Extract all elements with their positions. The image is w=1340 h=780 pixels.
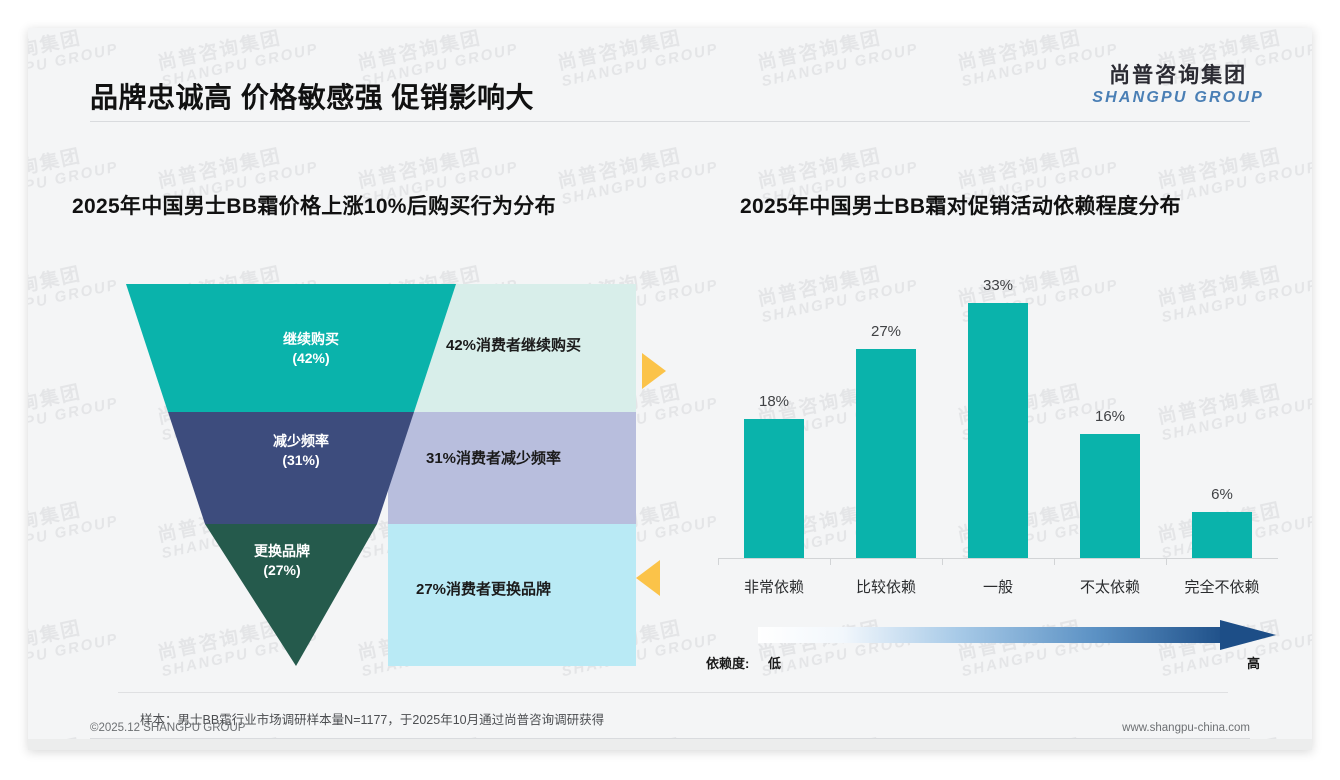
triangle-left-icon	[636, 560, 660, 596]
funnel-annotation-0: 42%消费者继续购买	[446, 334, 581, 355]
bar-value-label-0: 18%	[718, 393, 830, 410]
bar-axis-line	[718, 558, 1278, 559]
footnote-divider	[118, 692, 1228, 693]
bar-value-label-2: 33%	[942, 277, 1054, 294]
funnel-segment-label-0: 继续购买 (42%)	[236, 330, 386, 368]
triangle-right-icon	[642, 353, 666, 389]
legend-low-label: 低	[768, 653, 781, 672]
company-logo: 尚普咨询集团 SHANGPU GROUP	[1092, 64, 1264, 107]
axis-tick	[942, 558, 943, 565]
bar-value-label-1: 27%	[830, 323, 942, 340]
watermark-text: 尚普咨询集团SHANGPU GROUP	[28, 494, 120, 562]
funnel-label-text-0: 继续购买	[283, 331, 339, 347]
bar-plot-area: 18%27%33%16%6%	[718, 280, 1278, 558]
watermark-text: 尚普咨询集团SHANGPU GROUP	[28, 376, 120, 444]
axis-tick	[1166, 558, 1167, 565]
copyright-text: ©2025.12 SHANGPU GROUP	[90, 722, 245, 734]
funnel-segment-label-1: 减少频率 (31%)	[226, 432, 376, 470]
bar-1	[856, 349, 916, 558]
watermark-text: 尚普咨询集团SHANGPU GROUP	[556, 140, 720, 208]
right-chart-title: 2025年中国男士BB霜对促销活动依赖程度分布	[740, 190, 1181, 220]
slide-canvas: 尚普咨询集团SHANGPU GROUP尚普咨询集团SHANGPU GROUP尚普…	[28, 28, 1312, 750]
bar-3	[1080, 434, 1140, 558]
bar-category-label-1: 比较依赖	[830, 576, 942, 597]
page-title: 品牌忠诚高 价格敏感强 促销影响大	[90, 76, 534, 116]
legend-high-label: 高	[1247, 653, 1260, 672]
header-divider	[90, 121, 1250, 122]
bar-category-label-4: 完全不依赖	[1166, 576, 1278, 597]
watermark-text: 尚普咨询集团SHANGPU GROUP	[28, 258, 120, 326]
legend-caption: 依赖度:	[706, 653, 749, 672]
funnel-annotation-2: 27%消费者更换品牌	[416, 578, 551, 599]
bar-0	[744, 419, 804, 558]
funnel-chart: 继续购买 (42%) 减少频率 (31%) 更换品牌 (27%) 42%消费者继…	[126, 284, 636, 666]
funnel-annotation-1: 31%消费者减少频率	[426, 447, 561, 468]
funnel-label-text-1: 减少频率	[273, 433, 329, 449]
bar-column	[942, 280, 1054, 558]
dependency-legend: 依赖度: 低 高	[706, 620, 1276, 678]
bar-2	[968, 303, 1028, 558]
bar-value-label-3: 16%	[1054, 408, 1166, 425]
funnel-label-value-2: (27%)	[263, 562, 300, 578]
bar-column	[830, 280, 942, 558]
left-chart-title: 2025年中国男士BB霜价格上涨10%后购买行为分布	[72, 190, 556, 220]
funnel-label-value-1: (31%)	[282, 452, 319, 468]
legend-gradient-arrow-icon	[758, 620, 1276, 650]
bar-category-label-2: 一般	[942, 576, 1054, 597]
funnel-label-value-0: (42%)	[292, 350, 329, 366]
footer-divider	[90, 738, 1250, 739]
funnel-label-text-2: 更换品牌	[254, 543, 310, 559]
axis-tick	[1054, 558, 1055, 565]
axis-tick	[830, 558, 831, 565]
bar-category-label-3: 不太依赖	[1054, 576, 1166, 597]
bar-column	[718, 280, 830, 558]
slide-header: 品牌忠诚高 价格敏感强 促销影响大 尚普咨询集团 SHANGPU GROUP	[28, 28, 1312, 124]
funnel-segment-label-2: 更换品牌 (27%)	[222, 542, 342, 580]
funnel-annotation-bg-1	[388, 412, 636, 524]
footer-band	[28, 739, 1312, 750]
logo-english-text: SHANGPU GROUP	[1092, 88, 1264, 107]
website-url: www.shangpu-china.com	[1122, 722, 1250, 734]
axis-tick	[718, 558, 719, 565]
watermark-text: 尚普咨询集团SHANGPU GROUP	[28, 612, 120, 680]
bar-chart: 18%27%33%16%6% 非常依赖比较依赖一般不太依赖完全不依赖	[718, 280, 1278, 600]
bar-4	[1192, 512, 1252, 558]
bar-category-label-0: 非常依赖	[718, 576, 830, 597]
bar-value-label-4: 6%	[1166, 486, 1278, 503]
bar-column	[1166, 280, 1278, 558]
logo-chinese-text: 尚普咨询集团	[1092, 64, 1264, 88]
